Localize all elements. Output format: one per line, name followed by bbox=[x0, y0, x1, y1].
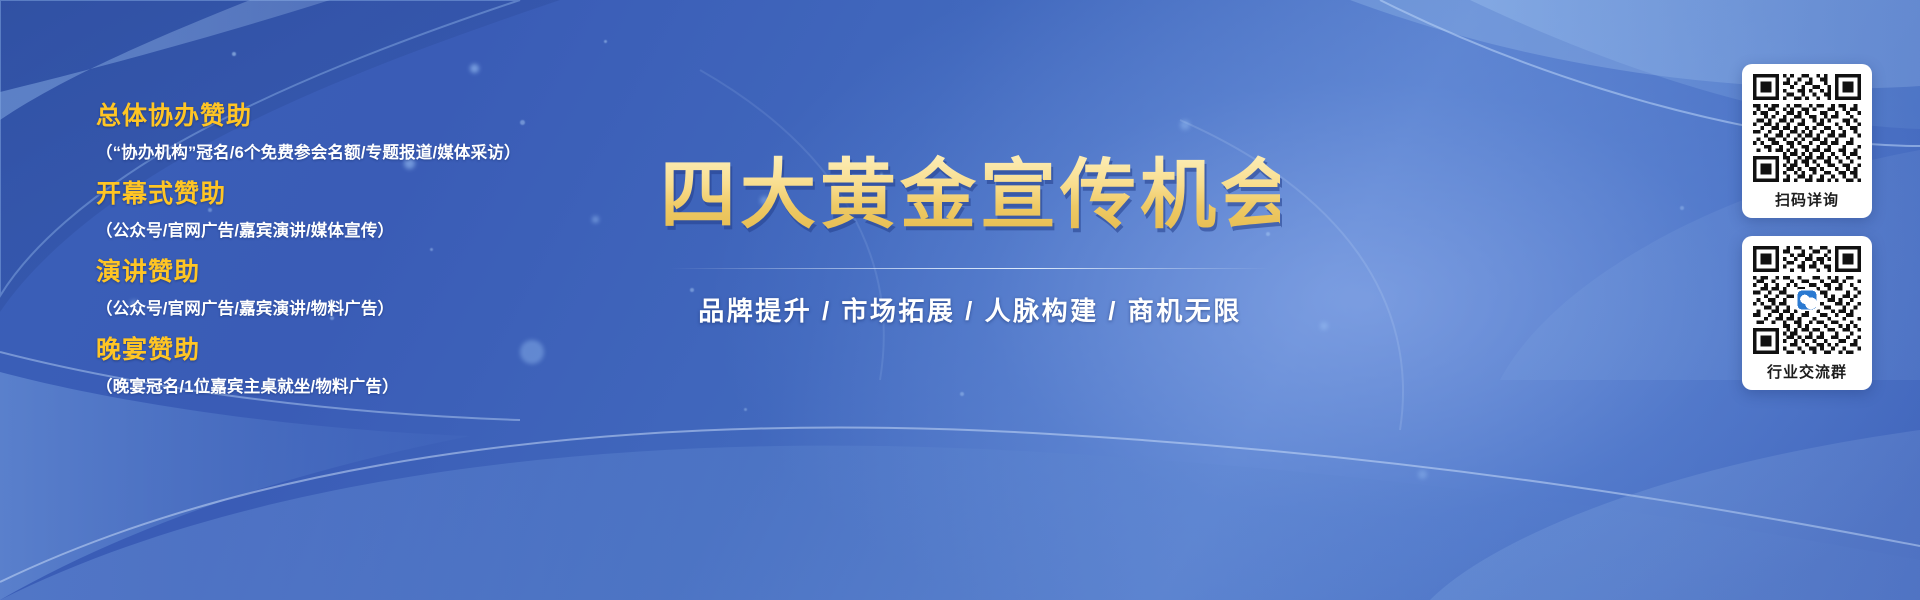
tagline: 品牌提升 / 市场拓展 / 人脉构建 / 商机无限 bbox=[660, 291, 1280, 328]
sponsor-tier: 总体协办赞助 （“协办机构”冠名/6个免费参会名额/专题报道/媒体采访） bbox=[96, 96, 696, 170]
sponsor-tier-list: 总体协办赞助 （“协办机构”冠名/6个免费参会名额/专题报道/媒体采访） 开幕式… bbox=[96, 96, 696, 408]
sponsor-tier-detail: （晚宴冠名/1位嘉宾主桌就坐/物料广告） bbox=[96, 370, 696, 404]
page-title: 四大黄金宣传机会 bbox=[660, 150, 1280, 242]
sponsor-tier-detail: （公众号/官网广告/嘉宾演讲/媒体宣传） bbox=[96, 214, 696, 248]
sponsor-tier-title: 演讲赞助 bbox=[96, 252, 696, 292]
sponsor-tier-detail: （公众号/官网广告/嘉宾演讲/物料广告） bbox=[96, 292, 696, 326]
headline-block: 四大黄金宣传机会 品牌提升 / 市场拓展 / 人脉构建 / 商机无限 bbox=[660, 150, 1280, 328]
qr-card-group[interactable]: 行业交流群 bbox=[1742, 236, 1872, 390]
qr-code-panel: 扫码详询 bbox=[1742, 64, 1872, 390]
divider bbox=[670, 268, 1270, 269]
sponsor-tier-title: 开幕式赞助 bbox=[96, 174, 696, 214]
sponsor-tier: 开幕式赞助 （公众号/官网广告/嘉宾演讲/媒体宣传） bbox=[96, 174, 696, 248]
sponsor-tier-title: 总体协办赞助 bbox=[96, 96, 696, 136]
qr-card-label: 行业交流群 bbox=[1767, 361, 1847, 382]
sponsor-tier: 演讲赞助 （公众号/官网广告/嘉宾演讲/物料广告） bbox=[96, 252, 696, 326]
sponsor-tier: 晚宴赞助 （晚宴冠名/1位嘉宾主桌就坐/物料广告） bbox=[96, 330, 696, 404]
sponsor-tier-detail: （“协办机构”冠名/6个免费参会名额/专题报道/媒体采访） bbox=[96, 136, 696, 170]
qr-card-consult[interactable]: 扫码详询 bbox=[1742, 64, 1872, 218]
promo-banner: 总体协办赞助 （“协办机构”冠名/6个免费参会名额/专题报道/媒体采访） 开幕式… bbox=[0, 0, 1920, 600]
qr-code-icon bbox=[1753, 246, 1861, 354]
qr-card-label: 扫码详询 bbox=[1775, 189, 1839, 210]
sponsor-tier-title: 晚宴赞助 bbox=[96, 330, 696, 370]
qr-code-icon bbox=[1753, 74, 1861, 182]
